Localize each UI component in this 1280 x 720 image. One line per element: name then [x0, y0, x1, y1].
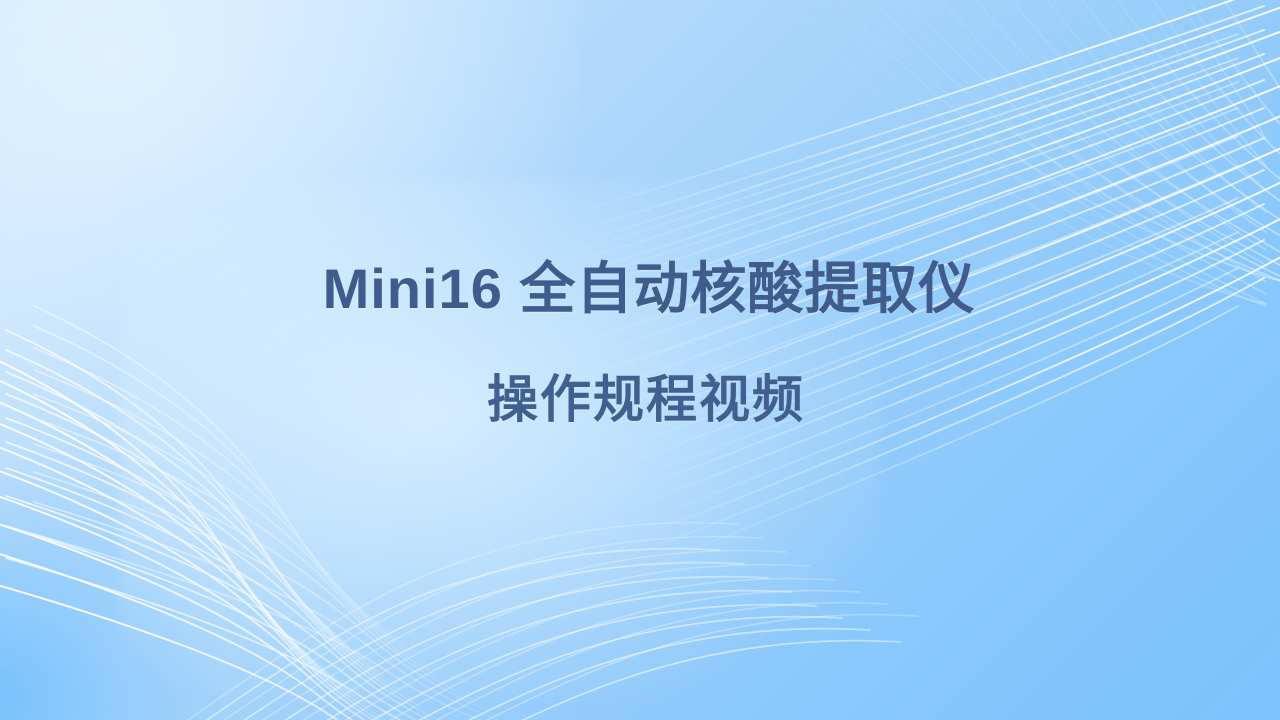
title-block: Mini16 全自动核酸提取仪 操作规程视频 [0, 258, 1280, 428]
title-slide: Mini16 全自动核酸提取仪 操作规程视频 [0, 0, 1280, 720]
page-title: Mini16 全自动核酸提取仪 [0, 258, 1280, 321]
page-subtitle: 操作规程视频 [0, 321, 1280, 428]
background-accent-bottom-left [0, 470, 220, 720]
